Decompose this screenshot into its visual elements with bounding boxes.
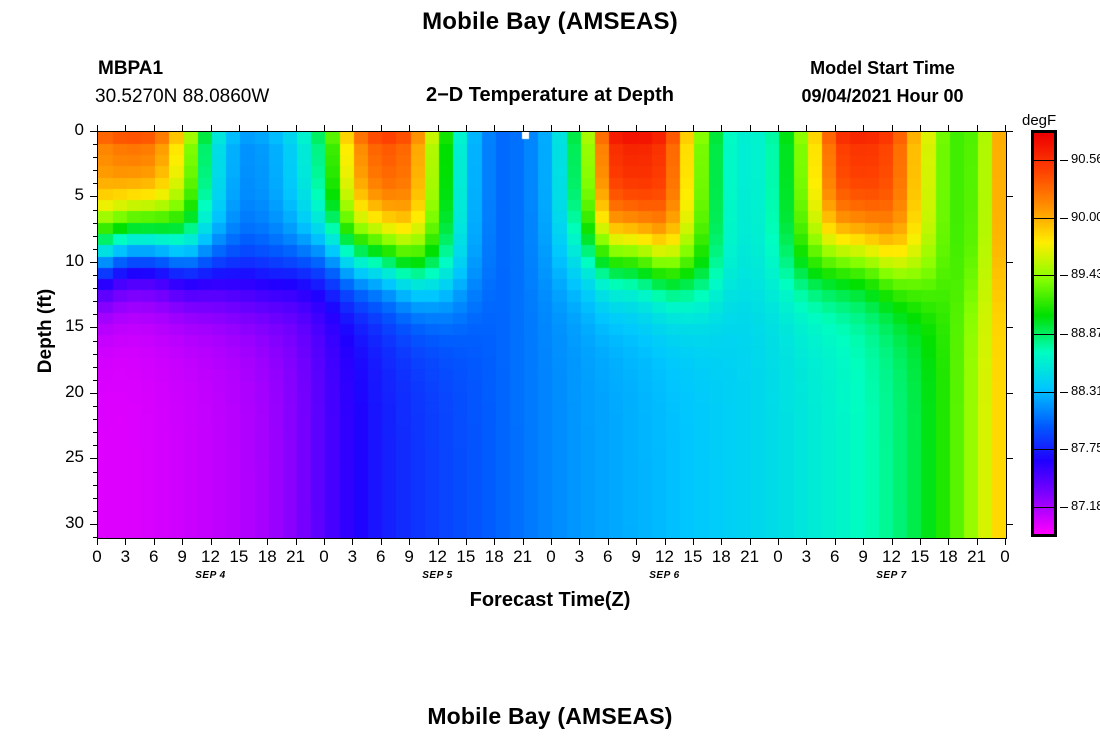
colorbar-tick bbox=[1060, 160, 1068, 161]
x-axis-tick bbox=[466, 538, 467, 545]
x-axis-title: Forecast Time(Z) bbox=[0, 589, 1100, 612]
y-axis-minor-tick bbox=[93, 485, 97, 486]
y-axis-tick bbox=[90, 327, 97, 328]
y-axis-minor-tick bbox=[93, 367, 97, 368]
y-axis-minor-tick bbox=[93, 236, 97, 237]
x-axis-tick bbox=[778, 125, 779, 132]
y-axis-minor-tick bbox=[93, 183, 97, 184]
y-axis-minor-tick bbox=[93, 170, 97, 171]
page-title-bottom: Mobile Bay (AMSEAS) bbox=[0, 703, 1100, 730]
x-axis-tick bbox=[665, 538, 666, 545]
colorbar-level-line bbox=[1034, 160, 1054, 161]
y-axis-tick bbox=[90, 196, 97, 197]
y-axis-tick-label: 25 bbox=[40, 447, 84, 467]
x-axis-tick bbox=[438, 538, 439, 545]
x-axis-tick-label: 0 bbox=[985, 547, 1025, 567]
x-axis-tick bbox=[211, 538, 212, 545]
colorbar-tick bbox=[1060, 507, 1068, 508]
y-axis-tick bbox=[1006, 524, 1013, 525]
x-axis-tick bbox=[154, 538, 155, 545]
y-axis-title: Depth (ft) bbox=[35, 261, 57, 401]
x-axis-tick bbox=[1005, 538, 1006, 545]
y-axis-minor-tick bbox=[93, 210, 97, 211]
y-axis-tick-label: 0 bbox=[40, 120, 84, 140]
colorbar-level-line bbox=[1034, 275, 1054, 276]
x-axis-tick bbox=[693, 538, 694, 545]
y-axis-minor-tick bbox=[93, 432, 97, 433]
x-axis-tick bbox=[211, 125, 212, 132]
y-axis-minor-tick bbox=[93, 223, 97, 224]
y-axis-tick bbox=[1006, 458, 1013, 459]
x-axis-tick bbox=[438, 125, 439, 132]
model-start-time-label: Model Start Time bbox=[760, 58, 1005, 79]
colorbar-tick-label: 87.188 bbox=[1071, 498, 1100, 513]
temperature-depth-heatmap bbox=[97, 131, 1007, 539]
x-axis-tick bbox=[835, 125, 836, 132]
x-axis-tick bbox=[948, 125, 949, 132]
x-axis-tick bbox=[579, 125, 580, 132]
x-axis-tick bbox=[494, 538, 495, 545]
x-axis-tick bbox=[296, 538, 297, 545]
y-axis-tick bbox=[90, 458, 97, 459]
y-axis-minor-tick bbox=[93, 249, 97, 250]
x-axis-tick bbox=[551, 125, 552, 132]
colorbar-units-label: degF bbox=[1022, 112, 1056, 129]
x-axis-day-label: SEP 4 bbox=[171, 570, 251, 581]
colorbar-level-line bbox=[1034, 218, 1054, 219]
x-axis-tick bbox=[892, 538, 893, 545]
colorbar-tick-label: 87.750 bbox=[1071, 440, 1100, 455]
x-axis-tick bbox=[636, 538, 637, 545]
colorbar-level-line bbox=[1034, 507, 1054, 508]
x-axis-tick bbox=[608, 125, 609, 132]
colorbar-tick-label: 90.562 bbox=[1071, 151, 1100, 166]
x-axis-tick bbox=[835, 538, 836, 545]
x-axis-tick bbox=[409, 125, 410, 132]
y-axis-minor-tick bbox=[93, 314, 97, 315]
y-axis-minor-tick bbox=[93, 157, 97, 158]
x-axis-tick bbox=[154, 125, 155, 132]
x-axis-tick bbox=[693, 125, 694, 132]
station-id: MBPA1 bbox=[98, 58, 163, 80]
x-axis-tick bbox=[778, 538, 779, 545]
x-axis-tick bbox=[381, 538, 382, 545]
x-axis-tick bbox=[409, 538, 410, 545]
heatmap-canvas bbox=[98, 132, 1006, 538]
y-axis-minor-tick bbox=[93, 380, 97, 381]
y-axis-minor-tick bbox=[93, 498, 97, 499]
colorbar-level-line bbox=[1034, 449, 1054, 450]
y-axis-tick bbox=[90, 524, 97, 525]
colorbar-tick bbox=[1060, 275, 1068, 276]
x-axis-day-label: SEP 7 bbox=[852, 570, 932, 581]
colorbar-tick bbox=[1060, 449, 1068, 450]
y-axis-minor-tick bbox=[93, 472, 97, 473]
model-start-time-value: 09/04/2021 Hour 00 bbox=[760, 86, 1005, 107]
page-title-top: Mobile Bay (AMSEAS) bbox=[0, 8, 1100, 36]
y-axis-minor-tick bbox=[93, 537, 97, 538]
y-axis-minor-tick bbox=[93, 419, 97, 420]
x-axis-tick bbox=[125, 538, 126, 545]
x-axis-tick bbox=[920, 538, 921, 545]
x-axis-tick bbox=[267, 125, 268, 132]
x-axis-tick bbox=[125, 125, 126, 132]
x-axis-tick bbox=[863, 538, 864, 545]
x-axis-tick bbox=[466, 125, 467, 132]
y-axis-tick bbox=[1006, 196, 1013, 197]
x-axis-tick bbox=[97, 538, 98, 545]
x-axis-tick bbox=[721, 125, 722, 132]
colorbar-tick bbox=[1060, 334, 1068, 335]
x-axis-tick bbox=[608, 538, 609, 545]
x-axis-tick bbox=[806, 125, 807, 132]
colorbar-tick-label: 90.000 bbox=[1071, 209, 1100, 224]
station-coordinates: 30.5270N 88.0860W bbox=[95, 86, 269, 108]
x-axis-tick bbox=[523, 125, 524, 132]
colorbar-tick-label: 88.312 bbox=[1071, 383, 1100, 398]
x-axis-tick bbox=[665, 125, 666, 132]
y-axis-minor-tick bbox=[93, 288, 97, 289]
y-axis-minor-tick bbox=[93, 275, 97, 276]
x-axis-tick bbox=[948, 538, 949, 545]
colorbar-level-line bbox=[1034, 392, 1054, 393]
x-axis-tick bbox=[352, 125, 353, 132]
x-axis-tick bbox=[750, 538, 751, 545]
x-axis-tick bbox=[239, 125, 240, 132]
x-axis-tick bbox=[551, 538, 552, 545]
y-axis-tick bbox=[1006, 393, 1013, 394]
colorbar-tick-label: 88.875 bbox=[1071, 325, 1100, 340]
x-axis-tick bbox=[636, 125, 637, 132]
x-axis-day-label: SEP 6 bbox=[625, 570, 705, 581]
x-axis-tick bbox=[324, 538, 325, 545]
x-axis-tick bbox=[977, 538, 978, 545]
y-axis-minor-tick bbox=[93, 341, 97, 342]
x-axis-tick bbox=[352, 538, 353, 545]
colorbar-level-line bbox=[1034, 334, 1054, 335]
x-axis-tick bbox=[324, 125, 325, 132]
y-axis-tick bbox=[1006, 262, 1013, 263]
y-axis-minor-tick bbox=[93, 511, 97, 512]
y-axis-minor-tick bbox=[93, 406, 97, 407]
y-axis-tick bbox=[90, 262, 97, 263]
x-axis-tick bbox=[863, 125, 864, 132]
y-axis-minor-tick bbox=[93, 354, 97, 355]
x-axis-tick bbox=[750, 125, 751, 132]
y-axis-tick-label: 30 bbox=[40, 513, 84, 533]
x-axis-tick bbox=[721, 538, 722, 545]
y-axis-tick bbox=[90, 131, 97, 132]
y-axis-tick bbox=[1006, 327, 1013, 328]
x-axis-tick bbox=[381, 125, 382, 132]
plot-subtitle: 2−D Temperature at Depth bbox=[305, 84, 795, 107]
x-axis-day-label: SEP 5 bbox=[398, 570, 478, 581]
x-axis-tick bbox=[892, 125, 893, 132]
x-axis-tick bbox=[239, 538, 240, 545]
x-axis-tick bbox=[182, 125, 183, 132]
x-axis-tick bbox=[267, 538, 268, 545]
x-axis-tick bbox=[494, 125, 495, 132]
y-axis-minor-tick bbox=[93, 445, 97, 446]
y-axis-tick bbox=[90, 393, 97, 394]
colorbar-tick-label: 89.438 bbox=[1071, 266, 1100, 281]
x-axis-tick bbox=[182, 538, 183, 545]
x-axis-tick bbox=[977, 125, 978, 132]
x-axis-tick bbox=[523, 538, 524, 545]
y-axis-tick-label: 5 bbox=[40, 185, 84, 205]
y-axis-minor-tick bbox=[93, 144, 97, 145]
x-axis-tick bbox=[296, 125, 297, 132]
colorbar-tick bbox=[1060, 392, 1068, 393]
x-axis-tick bbox=[97, 125, 98, 132]
y-axis-minor-tick bbox=[93, 301, 97, 302]
y-axis-tick bbox=[1006, 131, 1013, 132]
x-axis-tick bbox=[920, 125, 921, 132]
x-axis-tick bbox=[579, 538, 580, 545]
x-axis-tick bbox=[806, 538, 807, 545]
colorbar-tick bbox=[1060, 218, 1068, 219]
